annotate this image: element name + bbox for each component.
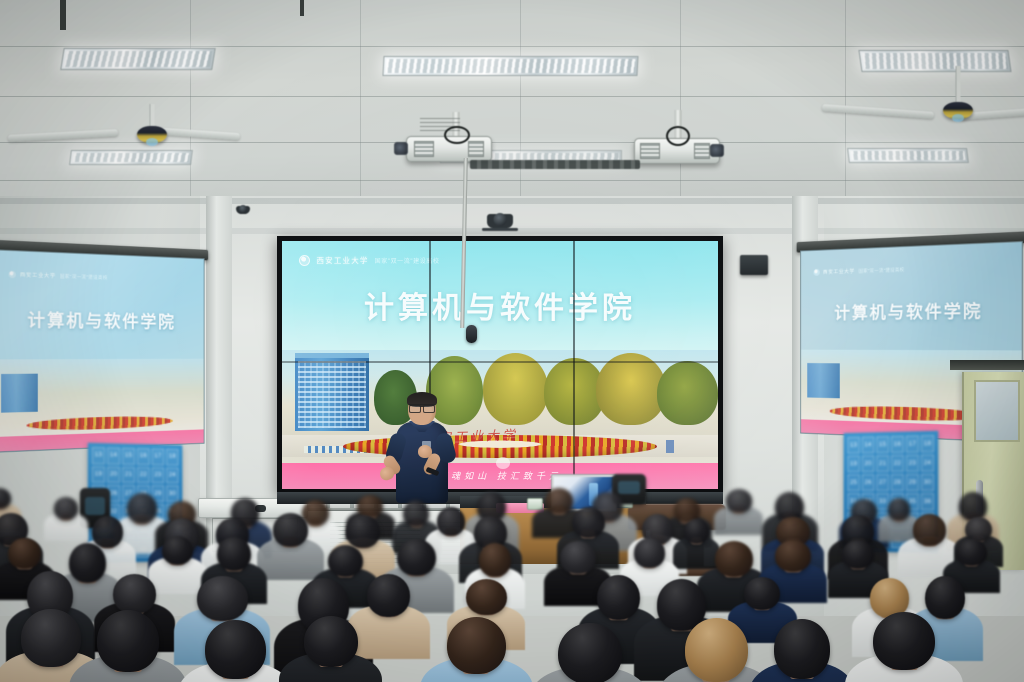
audience-member-head bbox=[346, 515, 379, 548]
seat-number-cell: 14 bbox=[107, 447, 120, 464]
seat-number-cell: 19 bbox=[92, 466, 105, 483]
ceiling-light-fixture bbox=[60, 48, 215, 70]
seat-number-cell: 21 bbox=[122, 466, 135, 483]
seat-number-cell: 25 bbox=[847, 474, 859, 491]
camera-lens-icon bbox=[494, 213, 507, 226]
tree bbox=[657, 361, 718, 425]
ceiling-light-fixture bbox=[69, 150, 193, 165]
audience-member-head bbox=[479, 543, 511, 577]
seat-number-cell: 18 bbox=[921, 435, 934, 453]
seat-number-cell: 26 bbox=[862, 474, 875, 491]
audience-member-head bbox=[466, 579, 507, 615]
glasses-icon bbox=[409, 404, 435, 411]
seat-number-cell: 23 bbox=[906, 455, 919, 472]
door-frame-top bbox=[950, 360, 1024, 370]
seat-number-cell: 23 bbox=[152, 467, 165, 484]
seat-number-cell: 21 bbox=[876, 455, 889, 472]
audience-member-head bbox=[572, 507, 605, 539]
seat-number-cell: 24 bbox=[921, 454, 934, 471]
audience bbox=[0, 492, 1024, 682]
seat-number-cell: 22 bbox=[137, 467, 150, 484]
audience-member-head bbox=[744, 577, 780, 611]
slide-campus-photo: 西安工业大学 铸魂如山 技汇致千元 bbox=[282, 350, 718, 489]
slide-pink-band: 铸魂如山 技汇致千元 bbox=[282, 463, 718, 489]
audience-member-head bbox=[685, 618, 748, 682]
audience-member-head bbox=[367, 574, 411, 617]
slide-headline: 计算机与软件学院 bbox=[282, 283, 718, 327]
roadside-sign bbox=[666, 440, 675, 452]
audience-member-head bbox=[162, 536, 193, 565]
university-crest-icon bbox=[299, 255, 310, 266]
ceiling-projector-right bbox=[630, 110, 730, 166]
audience-member-head bbox=[273, 513, 308, 547]
seat-number-cell: 17 bbox=[906, 435, 919, 452]
audience-member-head bbox=[545, 488, 573, 513]
seat-number-cell: 14 bbox=[862, 436, 875, 453]
seat-number-cell: 15 bbox=[122, 448, 135, 465]
ceiling-light-fixture bbox=[382, 56, 638, 76]
ceiling-light-fixture bbox=[847, 148, 969, 163]
seat-number-cell: 18 bbox=[166, 449, 178, 466]
screen-glare bbox=[0, 250, 204, 451]
panel-seam bbox=[282, 361, 718, 363]
audience-member-head bbox=[913, 514, 946, 546]
tree bbox=[596, 353, 666, 425]
wall-speaker bbox=[740, 255, 768, 275]
seat-number-cell: 13 bbox=[92, 447, 105, 464]
seat-number-cell: 27 bbox=[876, 474, 889, 491]
audience-member-head bbox=[956, 539, 986, 566]
main-video-wall[interactable]: 西安工业大学 国家"双一流"建设高校 计算机与软件学院 bbox=[277, 236, 723, 494]
audience-member-head bbox=[328, 545, 363, 577]
seat-number-cell: 15 bbox=[876, 436, 889, 453]
ceiling-fan-left bbox=[60, 104, 220, 150]
motion-sensor-icon bbox=[236, 206, 250, 214]
seat-number-cell: 24 bbox=[166, 467, 178, 484]
audience-member-head bbox=[888, 498, 910, 520]
audience-member-head bbox=[873, 612, 935, 670]
audience-member-head bbox=[437, 507, 465, 536]
audience-member-head bbox=[715, 541, 753, 577]
seat-number-cell: 22 bbox=[891, 455, 904, 472]
left-projection-screen: 西安工业大学 国家"双一流"建设高校 计算机与软件学院 bbox=[0, 249, 205, 453]
hanging-microphone bbox=[466, 325, 477, 343]
campus-building bbox=[295, 358, 369, 430]
seat-number-cell: 20 bbox=[862, 455, 875, 472]
seat-number-cell: 28 bbox=[891, 474, 904, 491]
audience-member-head bbox=[69, 543, 106, 583]
audience-member-head bbox=[842, 540, 873, 569]
seat-number-cell: 20 bbox=[107, 466, 120, 483]
audience-member-head bbox=[113, 574, 156, 614]
seat-number-cell: 17 bbox=[152, 448, 165, 465]
slide-slogan: 铸魂如山 技汇致千元 bbox=[282, 469, 718, 482]
audience-member-head bbox=[447, 617, 506, 674]
seat-number-cell: 30 bbox=[921, 474, 934, 491]
presenter-hand-right bbox=[418, 445, 432, 458]
audience-member-head bbox=[205, 620, 265, 679]
camera-mount bbox=[482, 228, 518, 231]
audience-member-head bbox=[726, 489, 752, 512]
audience-member-head bbox=[775, 540, 811, 572]
audience-member-head bbox=[8, 538, 41, 569]
audience-member-head bbox=[21, 609, 80, 666]
ceiling-fan-right bbox=[880, 66, 1024, 136]
audience-member-head bbox=[403, 500, 429, 527]
presenter bbox=[386, 393, 458, 503]
lecture-hall-photo: 西安工业大学 国家"双一流"建设高校 计算机与软件学院 西安工业大学 国家"双一… bbox=[0, 0, 1024, 682]
audience-member-head bbox=[217, 537, 251, 571]
audience-member-head bbox=[54, 497, 78, 520]
audience-member-head bbox=[597, 575, 640, 621]
door-window bbox=[974, 380, 1020, 442]
audience-member-head bbox=[684, 519, 709, 544]
audience-member-head bbox=[92, 516, 123, 548]
ceiling bbox=[0, 0, 1024, 200]
audience-member-head bbox=[97, 610, 159, 672]
ceiling-projector-left bbox=[398, 112, 498, 162]
tree bbox=[483, 353, 548, 425]
audience-member-head bbox=[127, 493, 157, 524]
audience-member-head bbox=[925, 576, 965, 619]
seat-number-cell: 13 bbox=[847, 437, 859, 454]
seat-number-cell: 19 bbox=[847, 455, 859, 472]
audience-member-head bbox=[558, 623, 622, 682]
ptz-camera bbox=[487, 214, 513, 228]
audience-member-head bbox=[397, 539, 436, 577]
slide-header: 西安工业大学 国家"双一流"建设高校 bbox=[299, 255, 439, 266]
audience-member-head bbox=[560, 541, 596, 574]
audience-member-head bbox=[304, 616, 358, 667]
panel-seam bbox=[573, 241, 575, 489]
seat-number-cell: 16 bbox=[891, 436, 904, 453]
audience-member-head bbox=[634, 538, 665, 567]
audience-member-head bbox=[197, 576, 248, 621]
seat-number-cell: 29 bbox=[906, 474, 919, 491]
audience-member-head bbox=[774, 619, 829, 678]
seat-number-cell: 16 bbox=[137, 448, 150, 465]
slide-university-name: 西安工业大学 bbox=[316, 255, 368, 266]
